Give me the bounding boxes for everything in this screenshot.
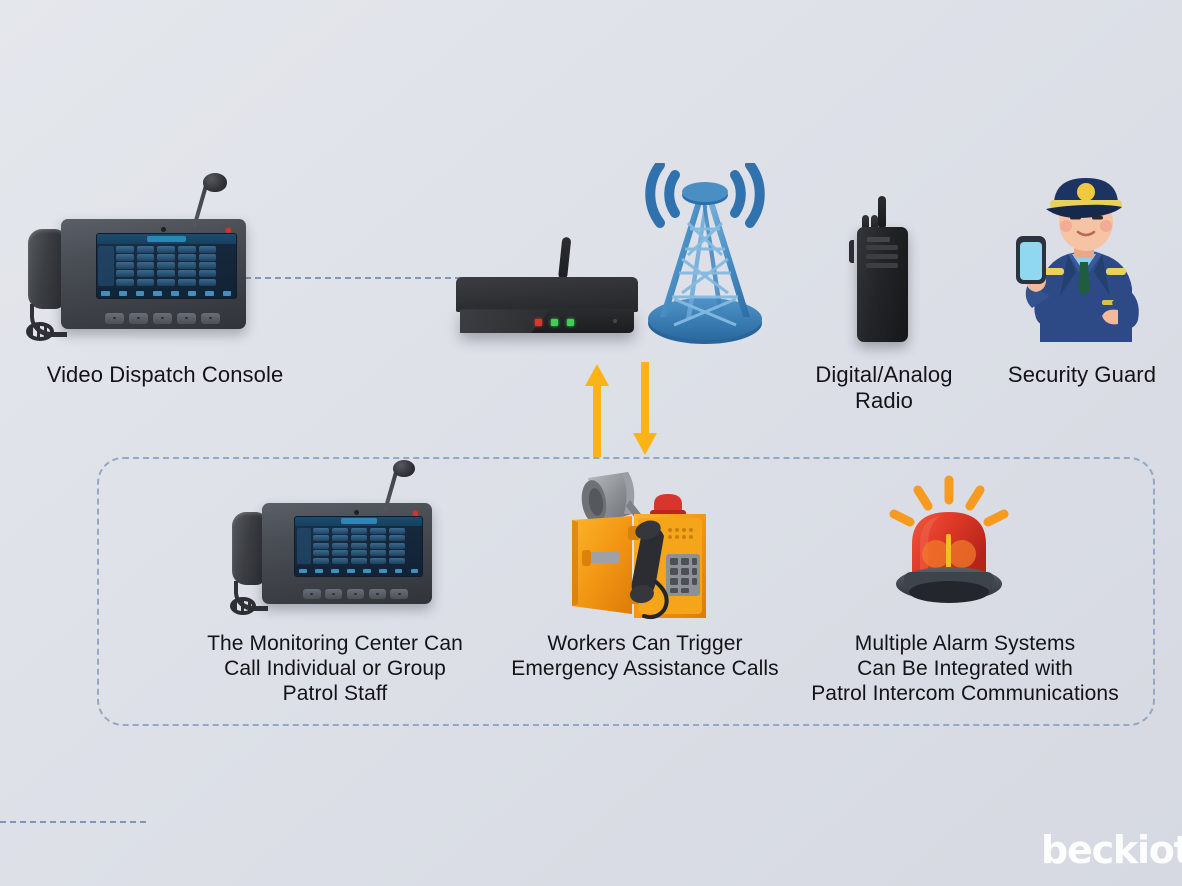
console-screen-sidebar — [98, 246, 113, 286]
console-function-keys[interactable] — [303, 589, 408, 599]
radio-ptt-button[interactable] — [849, 240, 854, 263]
alarm-beacon[interactable] — [874, 472, 1024, 612]
alarm-beacon-label: Multiple Alarm Systems Can Be Integrated… — [770, 632, 1160, 706]
cell-tower-icon — [630, 163, 780, 345]
console-screen-contact-grid — [116, 246, 216, 286]
console-screen-topbar — [97, 234, 236, 244]
console-screen[interactable] — [96, 233, 237, 299]
alarm-beacon-icon — [874, 472, 1024, 612]
router-antenna — [558, 237, 571, 280]
bottom-left-link — [0, 821, 146, 823]
microphone-icon — [203, 173, 227, 192]
emergency-horn-telephone-label: Workers Can Trigger Emergency Assistance… — [495, 632, 795, 682]
arrow-up-icon — [584, 362, 610, 457]
digital-analog-radio[interactable] — [848, 196, 920, 342]
router-top-shell — [456, 277, 638, 312]
radio-body — [857, 227, 909, 342]
router-front-panel — [460, 309, 635, 333]
security-guard — [1006, 176, 1158, 342]
console-to-router-link — [245, 277, 461, 279]
console-screen-sidebar — [297, 528, 311, 565]
video-dispatch-console[interactable] — [28, 214, 246, 342]
microphone-icon — [393, 460, 415, 477]
router-status-led — [567, 319, 574, 326]
monitoring-center-console[interactable] — [232, 498, 432, 616]
console-screen-title — [147, 236, 186, 242]
radio-antenna — [878, 196, 886, 227]
console-screen-toolbar — [295, 566, 422, 575]
console-camera-icon — [161, 227, 166, 232]
security-guard-label: Security Guard — [982, 362, 1182, 388]
radio-brand-label — [867, 237, 890, 242]
router-led-group — [535, 316, 619, 330]
console-handset — [232, 512, 266, 585]
console-body — [61, 219, 246, 329]
emergency-horn-telephone[interactable] — [566, 470, 728, 622]
console-cord-coil — [26, 322, 54, 341]
video-dispatch-console-label: Video Dispatch Console — [20, 362, 310, 388]
console-camera-icon — [354, 510, 359, 515]
downlink-arrow — [632, 362, 658, 457]
digital-analog-radio-label: Digital/Analog Radio — [784, 362, 984, 414]
emergency-telephone-illustration — [566, 470, 728, 622]
console-handset — [28, 229, 65, 308]
security-guard-illustration — [1006, 176, 1158, 342]
router-gateway[interactable] — [456, 277, 638, 337]
console-screen-title — [341, 518, 377, 523]
router-lan-led — [551, 319, 558, 326]
monitoring-center-console-label: The Monitoring Center Can Call Individua… — [160, 632, 510, 706]
brand-logo: beckiot — [1041, 828, 1182, 872]
console-screen-topbar — [295, 517, 422, 526]
router-power-led — [535, 319, 542, 326]
arrow-down-icon — [632, 362, 658, 457]
console-function-keys[interactable] — [105, 313, 220, 324]
diagram-canvas: Video Dispatch Console — [0, 0, 1182, 886]
uplink-arrow — [584, 362, 610, 457]
console-screen[interactable] — [294, 516, 423, 577]
console-cord-coil — [230, 597, 256, 615]
cell-tower — [630, 163, 780, 345]
radio-speaker-grille — [866, 245, 898, 268]
console-screen-contact-grid — [313, 528, 405, 565]
console-status-led — [226, 228, 231, 233]
console-screen-toolbar — [97, 288, 236, 298]
console-body — [262, 503, 432, 604]
